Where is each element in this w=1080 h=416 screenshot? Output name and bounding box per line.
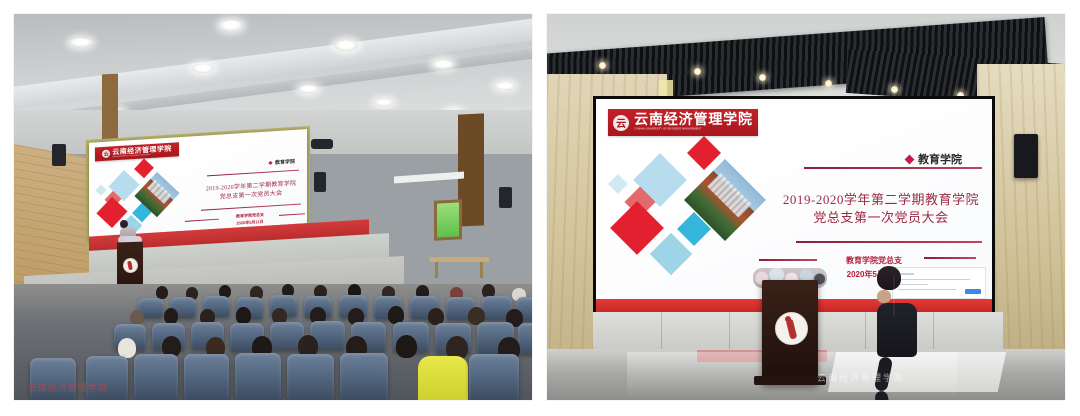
speaker-box-icon	[499, 187, 512, 208]
ceiling-light-icon	[298, 85, 319, 93]
speaker-box-icon	[52, 144, 66, 166]
ceiling-light-icon	[374, 99, 394, 106]
ceiling-light-icon	[219, 20, 243, 31]
seat	[469, 354, 519, 400]
ceiling-spot-icon	[694, 68, 701, 75]
ceiling-light-icon	[432, 60, 454, 69]
seat	[340, 353, 388, 400]
department-tag: 教育学院	[906, 151, 962, 167]
red-diamond-top	[134, 158, 154, 178]
slide-title-line1: 2019-2020学年第二学期教育学院	[776, 191, 986, 210]
diamond-bullet-icon	[905, 154, 915, 164]
ceiling-spot-icon	[825, 80, 832, 87]
presenter-torso	[877, 303, 917, 357]
department-label: 教育学院	[918, 151, 962, 167]
pale-diamond-small	[608, 174, 628, 194]
top-rule	[804, 167, 982, 169]
ceiling-light-icon	[334, 40, 358, 51]
diamond-bullet-icon	[268, 161, 272, 165]
mid-rule	[796, 241, 982, 243]
logo-badge: 云	[102, 150, 110, 159]
podium-emblem-icon	[123, 258, 138, 273]
department-label: 教育学院	[275, 158, 295, 166]
ceiling-light-icon	[192, 64, 214, 73]
audience-head	[118, 338, 136, 358]
photo-left-auditorium[interactable]: 云 云南经济管理学院 YUNNAN UNIVERSITY OF BUSINESS…	[14, 14, 532, 400]
university-logo: 云 云南经济管理学院 YUNNAN UNIVERSITY OF BUSINESS…	[95, 142, 179, 161]
ceiling-light-icon	[494, 82, 516, 90]
department-tag: 教育学院	[269, 158, 295, 167]
wall-seam	[661, 312, 662, 354]
logo-badge: 云	[613, 115, 629, 131]
popup-button[interactable]	[965, 289, 981, 294]
mid-rule	[201, 204, 301, 211]
audience-head	[130, 310, 144, 325]
audience-yellow-shirt	[418, 356, 468, 400]
audience-head	[396, 335, 417, 358]
photo-right-stage[interactable]: 云 云南经济管理学院 YUNNAN UNIVERSITY OF BUSINESS…	[547, 14, 1065, 400]
short-rule-left	[185, 219, 219, 222]
presenter-head	[877, 266, 901, 290]
audience-head	[164, 308, 178, 324]
seat	[184, 354, 229, 400]
side-table	[429, 257, 489, 262]
seat	[518, 323, 532, 354]
red-diamond-top	[687, 136, 721, 170]
watermark-right: 云南经济管理学院	[817, 371, 905, 384]
photo-collage: 云 云南经济管理学院 YUNNAN UNIVERSITY OF BUSINESS…	[0, 0, 1080, 416]
podium-base	[754, 376, 826, 385]
presenter-head	[120, 220, 128, 228]
presenter-face	[877, 290, 891, 303]
university-name-cn: 云南经济管理学院	[634, 114, 753, 129]
emergency-exit-icon	[434, 199, 462, 240]
pale-diamond-small	[95, 184, 106, 195]
university-name-en: YUNNAN UNIVERSITY OF BUSINESS MANAGEMENT	[634, 128, 701, 131]
wall-seam	[865, 312, 866, 354]
short-rule-left	[759, 259, 817, 261]
top-rule	[207, 170, 299, 177]
seat	[134, 354, 178, 400]
podium-emblem-icon	[775, 312, 808, 345]
ceiling-light-icon	[69, 38, 93, 47]
ceiling-spot-icon	[599, 62, 606, 69]
seat	[235, 353, 281, 400]
speaker-box-icon	[314, 172, 326, 192]
speaker-box-icon	[1014, 134, 1038, 178]
pale-diamond	[650, 233, 692, 275]
wall-seam	[933, 312, 934, 354]
university-logo: 云 云南经济管理学院 YUNNAN UNIVERSITY OF BUSINESS…	[608, 109, 758, 136]
projector-icon	[311, 139, 333, 149]
audience-head	[236, 307, 251, 324]
wall-seam	[729, 312, 730, 354]
slide-title-line2: 党总支第一次党员大会	[776, 209, 986, 228]
watermark-left: 云南经济管理学院	[28, 381, 108, 394]
seat	[287, 354, 334, 400]
ceiling-spot-icon	[891, 86, 898, 93]
ceiling-spot-icon	[759, 74, 766, 81]
